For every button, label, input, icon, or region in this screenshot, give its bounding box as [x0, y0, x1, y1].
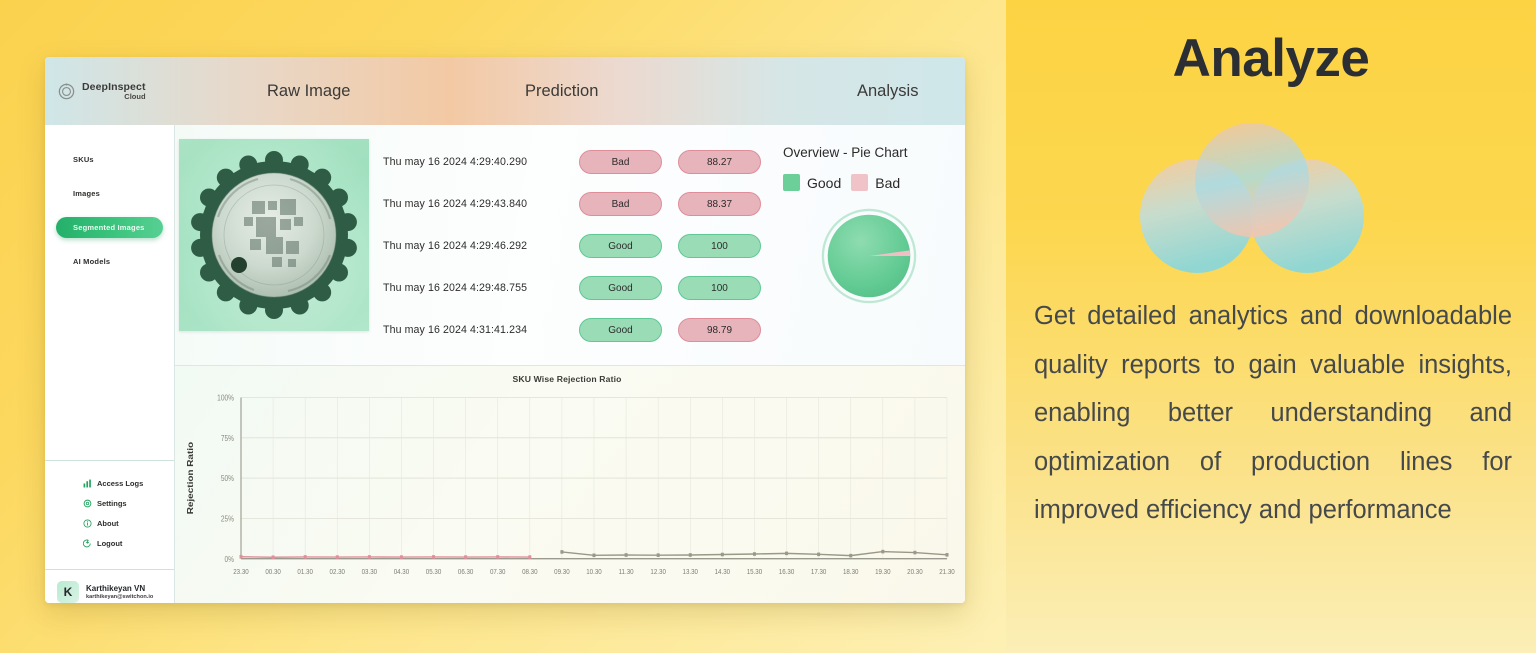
avatar: K [57, 581, 79, 603]
svg-text:13.30: 13.30 [683, 569, 699, 577]
prediction-timestamp: Thu may 16 2024 4:29:46.292 [383, 240, 579, 252]
svg-text:10.30: 10.30 [586, 569, 602, 577]
legend-label-good: Good [807, 175, 841, 191]
svg-text:75%: 75% [221, 433, 235, 443]
svg-text:12.30: 12.30 [650, 569, 666, 577]
svg-text:02.30: 02.30 [330, 569, 346, 577]
app-topbar: DeepInspect Cloud Raw Image Prediction A… [45, 57, 965, 125]
prediction-score-badge: 100 [678, 234, 761, 258]
prediction-score-badge: 100 [678, 276, 761, 300]
sidebar-label-about: About [97, 519, 119, 528]
prediction-verdict-badge: Bad [579, 192, 662, 216]
prediction-verdict-badge: Bad [579, 150, 662, 174]
promo-title: Analyze [1006, 28, 1536, 89]
prediction-row[interactable]: Thu may 16 2024 4:29:46.292 Good 100 [383, 225, 777, 267]
pie-chart[interactable] [821, 208, 965, 309]
bar-chart-icon [83, 479, 92, 488]
venn-circles-graphic [1111, 118, 1431, 278]
prediction-verdict-badge: Good [579, 318, 662, 342]
app-body: SKUs Images Segmented Images AI Models [45, 125, 965, 603]
sidebar-item-skus[interactable]: SKUs [45, 149, 174, 170]
svg-text:18.30: 18.30 [843, 569, 859, 577]
user-profile[interactable]: K Karthikeyan VN karthikeyan@switchon.io [45, 570, 174, 603]
svg-text:25%: 25% [221, 514, 235, 524]
sidebar-item-access-logs[interactable]: Access Logs [45, 479, 174, 488]
svg-text:08.30: 08.30 [522, 569, 538, 577]
sidebar-primary-nav: SKUs Images Segmented Images AI Models [45, 125, 174, 460]
prediction-row[interactable]: Thu may 16 2024 4:29:43.840 Bad 88.37 [383, 183, 777, 225]
user-name: Karthikeyan VN [86, 584, 153, 594]
prediction-score-badge: 88.27 [678, 150, 761, 174]
svg-text:03.30: 03.30 [362, 569, 378, 577]
svg-text:09.30: 09.30 [554, 569, 570, 577]
svg-text:06.30: 06.30 [458, 569, 474, 577]
bottle-cap-graphic [179, 139, 369, 331]
tab-prediction[interactable]: Prediction [525, 82, 598, 101]
prediction-verdict-badge: Good [579, 234, 662, 258]
svg-text:0%: 0% [224, 554, 234, 564]
prediction-timestamp: Thu may 16 2024 4:31:41.234 [383, 324, 579, 336]
sidebar-secondary-nav: Access Logs Settings [45, 461, 174, 569]
ring-logo-icon [57, 82, 76, 101]
legend-item-bad: Bad [851, 174, 900, 191]
brand: DeepInspect Cloud [45, 57, 175, 125]
sidebar: SKUs Images Segmented Images AI Models [45, 125, 175, 603]
svg-text:19.30: 19.30 [875, 569, 891, 577]
sidebar-item-ai-models[interactable]: AI Models [45, 251, 174, 272]
sidebar-item-about[interactable]: About [45, 519, 174, 528]
pie-chart-title: Overview - Pie Chart [783, 145, 965, 160]
prediction-timestamp: Thu may 16 2024 4:29:40.290 [383, 156, 579, 168]
prediction-score-badge: 98.79 [678, 318, 761, 342]
sidebar-item-logout[interactable]: Logout [45, 539, 174, 548]
promo-pane: Analyze [1006, 0, 1536, 653]
analysis-panel: Overview - Pie Chart Good Bad [777, 139, 965, 365]
prediction-timestamp: Thu may 16 2024 4:29:48.755 [383, 282, 579, 294]
sidebar-item-images[interactable]: Images [45, 183, 174, 204]
tab-raw-image[interactable]: Raw Image [267, 82, 350, 101]
svg-text:05.30: 05.30 [426, 569, 442, 577]
info-icon [83, 519, 92, 528]
app-showcase-pane: DeepInspect Cloud Raw Image Prediction A… [0, 0, 1006, 653]
rejection-chart-section: SKU Wise Rejection Ratio 0%25%50%75%100%… [175, 365, 965, 603]
brand-name: DeepInspect [82, 82, 146, 93]
prediction-row[interactable]: Thu may 16 2024 4:29:40.290 Bad 88.27 [383, 141, 777, 183]
user-email: karthikeyan@switchon.io [86, 594, 153, 601]
svg-text:15.30: 15.30 [747, 569, 763, 577]
pie-chart-svg [821, 208, 917, 304]
sidebar-label-settings: Settings [97, 499, 127, 508]
svg-text:20.30: 20.30 [907, 569, 923, 577]
svg-text:01.30: 01.30 [297, 569, 313, 577]
line-chart-title: SKU Wise Rejection Ratio [179, 374, 955, 384]
brand-text: DeepInspect Cloud [82, 82, 146, 101]
inspection-panel: Thu may 16 2024 4:29:40.290 Bad 88.27 Th… [175, 125, 965, 365]
legend-swatch-bad [851, 174, 868, 191]
sidebar-label-logout: Logout [97, 539, 122, 548]
sidebar-item-settings[interactable]: Settings [45, 499, 174, 508]
svg-text:00.30: 00.30 [265, 569, 281, 577]
topbar-tabs: Raw Image Prediction Analysis [175, 57, 965, 125]
svg-text:Rejection Ratio: Rejection Ratio [186, 441, 195, 514]
svg-text:50%: 50% [221, 474, 235, 484]
line-chart-svg: 0%25%50%75%100%23.3000.3001.3002.3003.30… [179, 388, 955, 599]
promo-body-text: Get detailed analytics and downloadable … [1034, 292, 1512, 535]
brand-subtitle: Cloud [82, 93, 146, 101]
prediction-verdict-badge: Good [579, 276, 662, 300]
main-content: Thu may 16 2024 4:29:40.290 Bad 88.27 Th… [175, 125, 965, 603]
svg-text:07.30: 07.30 [490, 569, 506, 577]
prediction-list: Thu may 16 2024 4:29:40.290 Bad 88.27 Th… [375, 139, 777, 365]
legend-item-good: Good [783, 174, 841, 191]
svg-text:17.30: 17.30 [811, 569, 827, 577]
svg-text:14.30: 14.30 [715, 569, 731, 577]
raw-image-column [175, 139, 375, 365]
svg-text:16.30: 16.30 [779, 569, 795, 577]
prediction-timestamp: Thu may 16 2024 4:29:43.840 [383, 198, 579, 210]
segmented-bottle-cap-image[interactable] [179, 139, 369, 331]
svg-text:100%: 100% [217, 393, 234, 403]
gear-icon [83, 499, 92, 508]
user-meta: Karthikeyan VN karthikeyan@switchon.io [86, 584, 153, 601]
tab-analysis[interactable]: Analysis [857, 82, 918, 101]
svg-text:21.30: 21.30 [939, 569, 955, 577]
prediction-row[interactable]: Thu may 16 2024 4:31:41.234 Good 98.79 [383, 309, 777, 351]
logout-icon [83, 539, 92, 548]
svg-text:23.30: 23.30 [233, 569, 249, 577]
legend-swatch-good [783, 174, 800, 191]
svg-text:11.30: 11.30 [619, 569, 634, 577]
sidebar-label-access-logs: Access Logs [97, 479, 143, 488]
screenshot-root: DeepInspect Cloud Raw Image Prediction A… [0, 0, 1536, 653]
prediction-row[interactable]: Thu may 16 2024 4:29:48.755 Good 100 [383, 267, 777, 309]
line-chart[interactable]: 0%25%50%75%100%23.3000.3001.3002.3003.30… [179, 388, 955, 599]
legend-label-bad: Bad [875, 175, 900, 191]
deepinspect-app-window: DeepInspect Cloud Raw Image Prediction A… [45, 57, 965, 603]
sidebar-item-segmented-images[interactable]: Segmented Images [56, 217, 163, 238]
prediction-score-badge: 88.37 [678, 192, 761, 216]
svg-text:04.30: 04.30 [394, 569, 410, 577]
pie-legend: Good Bad [783, 174, 965, 191]
